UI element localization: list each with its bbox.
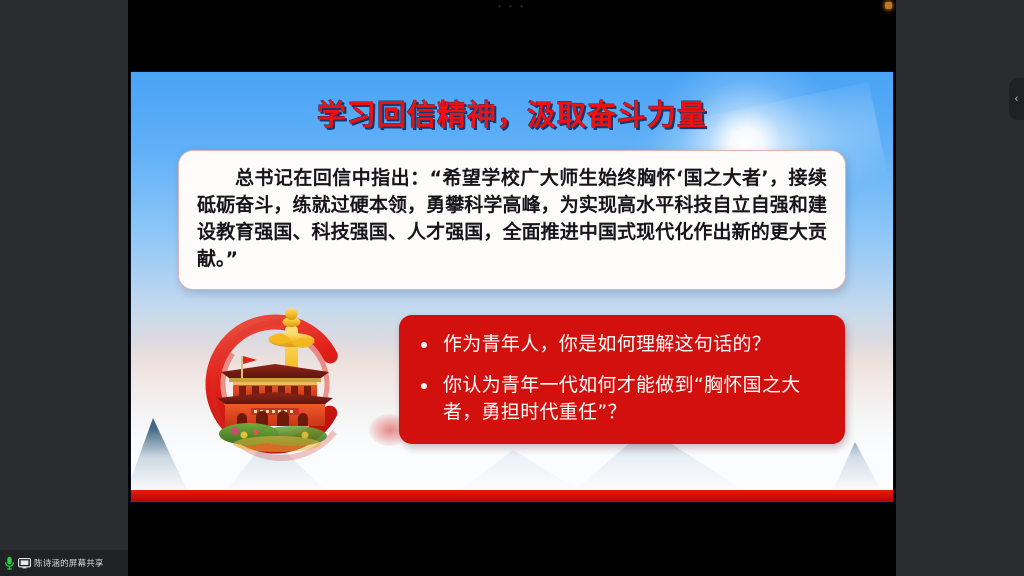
meeting-app-window: • • • 学习回信精神，汲取奋斗力量 总书记在回信中指出：“希望学校广大师生始… <box>0 0 1024 576</box>
question-text: 作为青年人，你是如何理解这句话的？ <box>443 331 771 358</box>
tiananmen-emblem-icon <box>193 298 361 464</box>
question-box: 作为青年人，你是如何理解这句话的？ 你认为青年一代如何才能做到“胸怀国之大者，勇… <box>399 315 845 444</box>
question-item: 作为青年人，你是如何理解这句话的？ <box>415 331 825 358</box>
screen-share-label: 陈诗涵的屏幕共享 <box>34 557 104 569</box>
mountain-peak-decoration <box>833 442 881 490</box>
shared-screen-video-stage[interactable]: • • • 学习回信精神，汲取奋斗力量 总书记在回信中指出：“希望学校广大师生始… <box>128 0 896 576</box>
presentation-slide: 学习回信精神，汲取奋斗力量 总书记在回信中指出：“希望学校广大师生始终胸怀‘国之… <box>130 71 894 503</box>
microphone-icon[interactable] <box>4 556 15 570</box>
recording-dot <box>885 2 892 9</box>
quote-text: 总书记在回信中指出：“希望学校广大师生始终胸怀‘国之大者’，接续砥砺奋斗，练就过… <box>197 165 827 273</box>
panel-collapse-toggle[interactable]: ‹ <box>1009 78 1024 120</box>
screen-share-status-bar: 陈诗涵的屏幕共享 <box>0 550 128 576</box>
screen-share-icon[interactable] <box>18 558 31 569</box>
mountain-peak-decoration <box>130 418 187 490</box>
question-text: 你认为青年一代如何才能做到“胸怀国之大者，勇担时代重任”？ <box>443 372 825 426</box>
quote-card: 总书记在回信中指出：“希望学校广大师生始终胸怀‘国之大者’，接续砥砺奋斗，练就过… <box>178 150 846 290</box>
shared-screen-toolbar-hint: • • • <box>482 2 542 11</box>
slide-title: 学习回信精神，汲取奋斗力量 <box>131 92 893 134</box>
bullet-icon <box>421 342 427 348</box>
slide-footer-bar <box>131 490 893 502</box>
mountain-peak-decoration <box>461 450 579 490</box>
question-item: 你认为青年一代如何才能做到“胸怀国之大者，勇担时代重任”？ <box>415 372 825 426</box>
bullet-icon <box>421 383 427 389</box>
